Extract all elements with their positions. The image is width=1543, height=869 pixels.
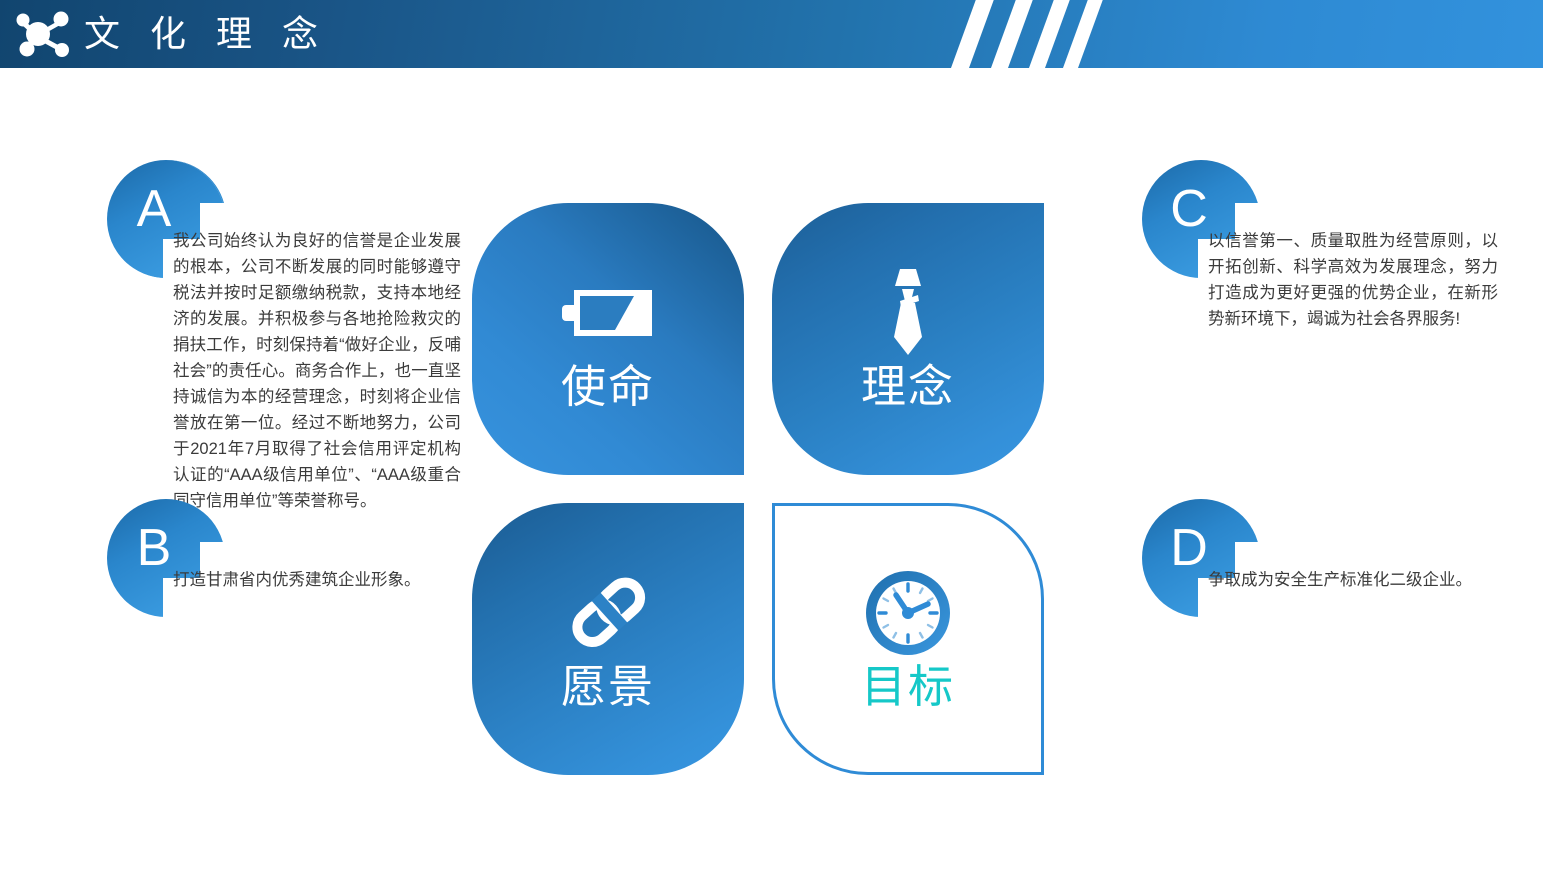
header-stripe-decoration — [955, 0, 1115, 68]
page-title: 文 化 理 念 — [84, 4, 328, 64]
necktie-icon — [860, 267, 956, 359]
stripe-4 — [1060, 0, 1105, 68]
chain-link-icon — [560, 567, 656, 659]
note-badge-b: B — [105, 497, 227, 623]
petal-label-vision: 愿景 — [561, 663, 655, 710]
pinwheel-diagram: 使命 理念 — [472, 203, 1044, 775]
page-header: 文 化 理 念 — [0, 0, 1543, 68]
petal-goal[interactable]: 目标 — [772, 503, 1044, 775]
clock-icon — [860, 567, 956, 659]
note-text-c: 以信誉第一、质量取胜为经营原则，以开拓创新、科学高效为发展理念，努力打造成为更好… — [1208, 228, 1498, 332]
petal-philosophy[interactable]: 理念 — [772, 203, 1044, 475]
battery-icon — [560, 267, 656, 359]
petal-label-goal: 目标 — [861, 663, 955, 710]
network-molecule-icon — [12, 8, 78, 60]
note-text-d: 争取成为安全生产标准化二级企业。 — [1208, 567, 1498, 593]
stripe-1 — [948, 0, 996, 68]
slide-canvas: 文 化 理 念 A 我公 — [0, 0, 1543, 869]
petal-label-philosophy: 理念 — [861, 363, 955, 410]
petal-label-mission: 使命 — [561, 363, 655, 410]
stripe-2 — [988, 0, 1035, 68]
petal-vision[interactable]: 愿景 — [472, 503, 744, 775]
note-text-b: 打造甘肃省内优秀建筑企业形象。 — [173, 567, 461, 593]
petal-mission[interactable]: 使命 — [472, 203, 744, 475]
stripe-3 — [1026, 0, 1072, 68]
note-text-a: 我公司始终认为良好的信誉是企业发展的根本，公司不断发展的同时能够遵守税法并按时足… — [173, 228, 461, 514]
note-badge-d: D — [1140, 497, 1262, 623]
